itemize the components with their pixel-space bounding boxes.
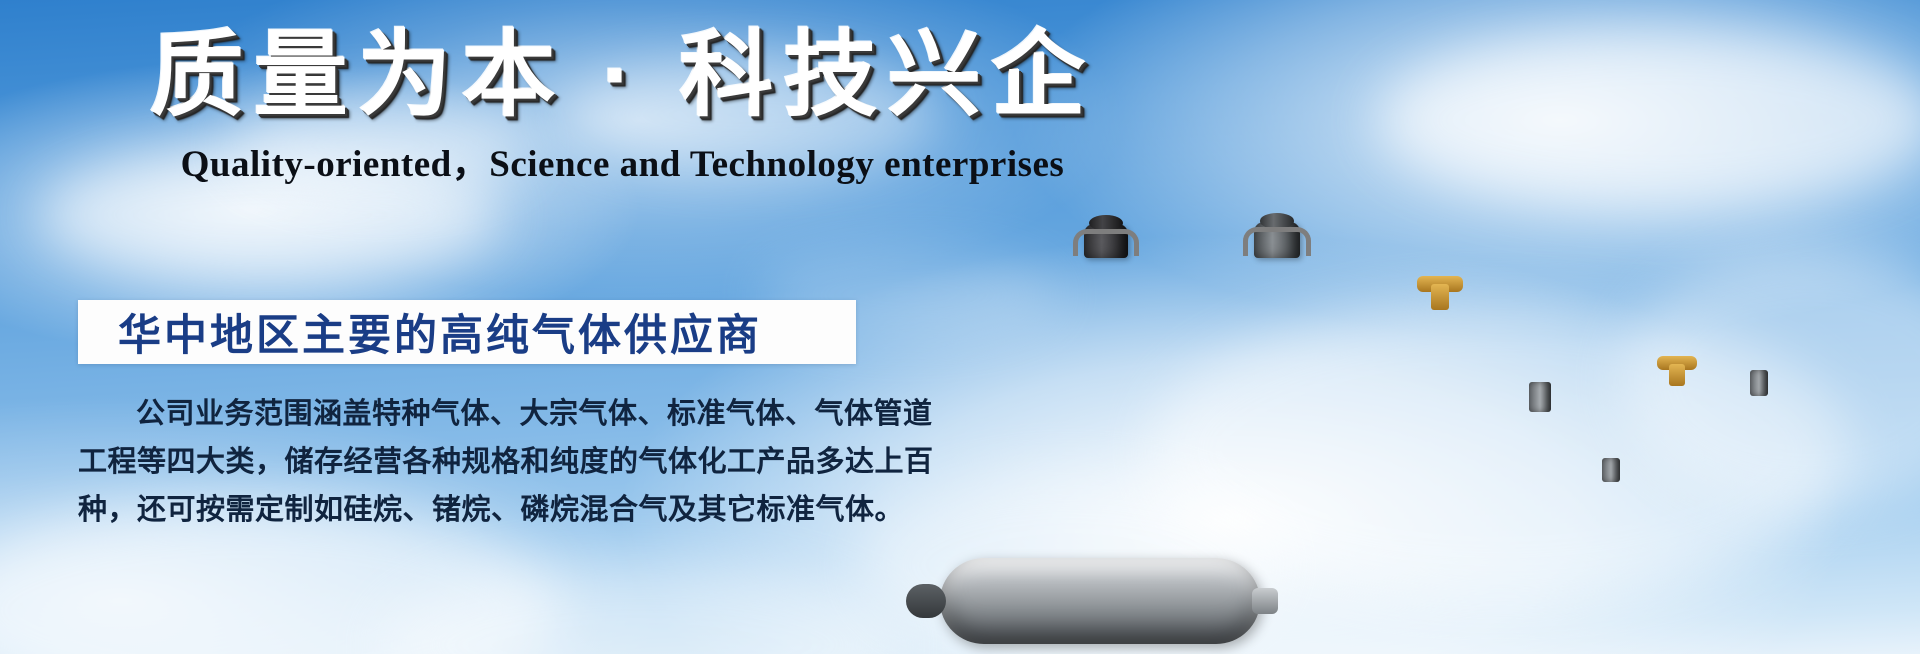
description-line: 公司业务范围涵盖特种气体、大宗气体、标准气体、气体管道 [78,390,878,438]
red-cylinder [1788,439,1892,654]
tall-silver-cylinder [1720,392,1798,654]
blue-cylinder [1632,364,1722,654]
description-line: 种，还可按需定制如硅烷、锗烷、磷烷混合气及其它标准气体。 [78,486,878,534]
slogan-text: 华中地区主要的高纯气体供应商 [78,301,762,363]
description-line: 工程等四大类，储存经营各种规格和纯度的气体化工产品多达上百 [78,438,878,486]
gas-cylinder-group [930,0,1920,654]
teal-cylinder [1388,284,1492,654]
slogan-box: 华中地区主要的高纯气体供应商 [78,300,856,364]
promotional-banner: 质量为本 · 科技兴企 Quality-oriented，Science and… [0,0,1920,654]
cloud-decoration [380,560,900,654]
lying-grey-cylinder [940,558,1260,644]
banner-description: 公司业务范围涵盖特种气体、大宗气体、标准气体、气体管道 工程等四大类，储存经营各… [78,390,878,534]
